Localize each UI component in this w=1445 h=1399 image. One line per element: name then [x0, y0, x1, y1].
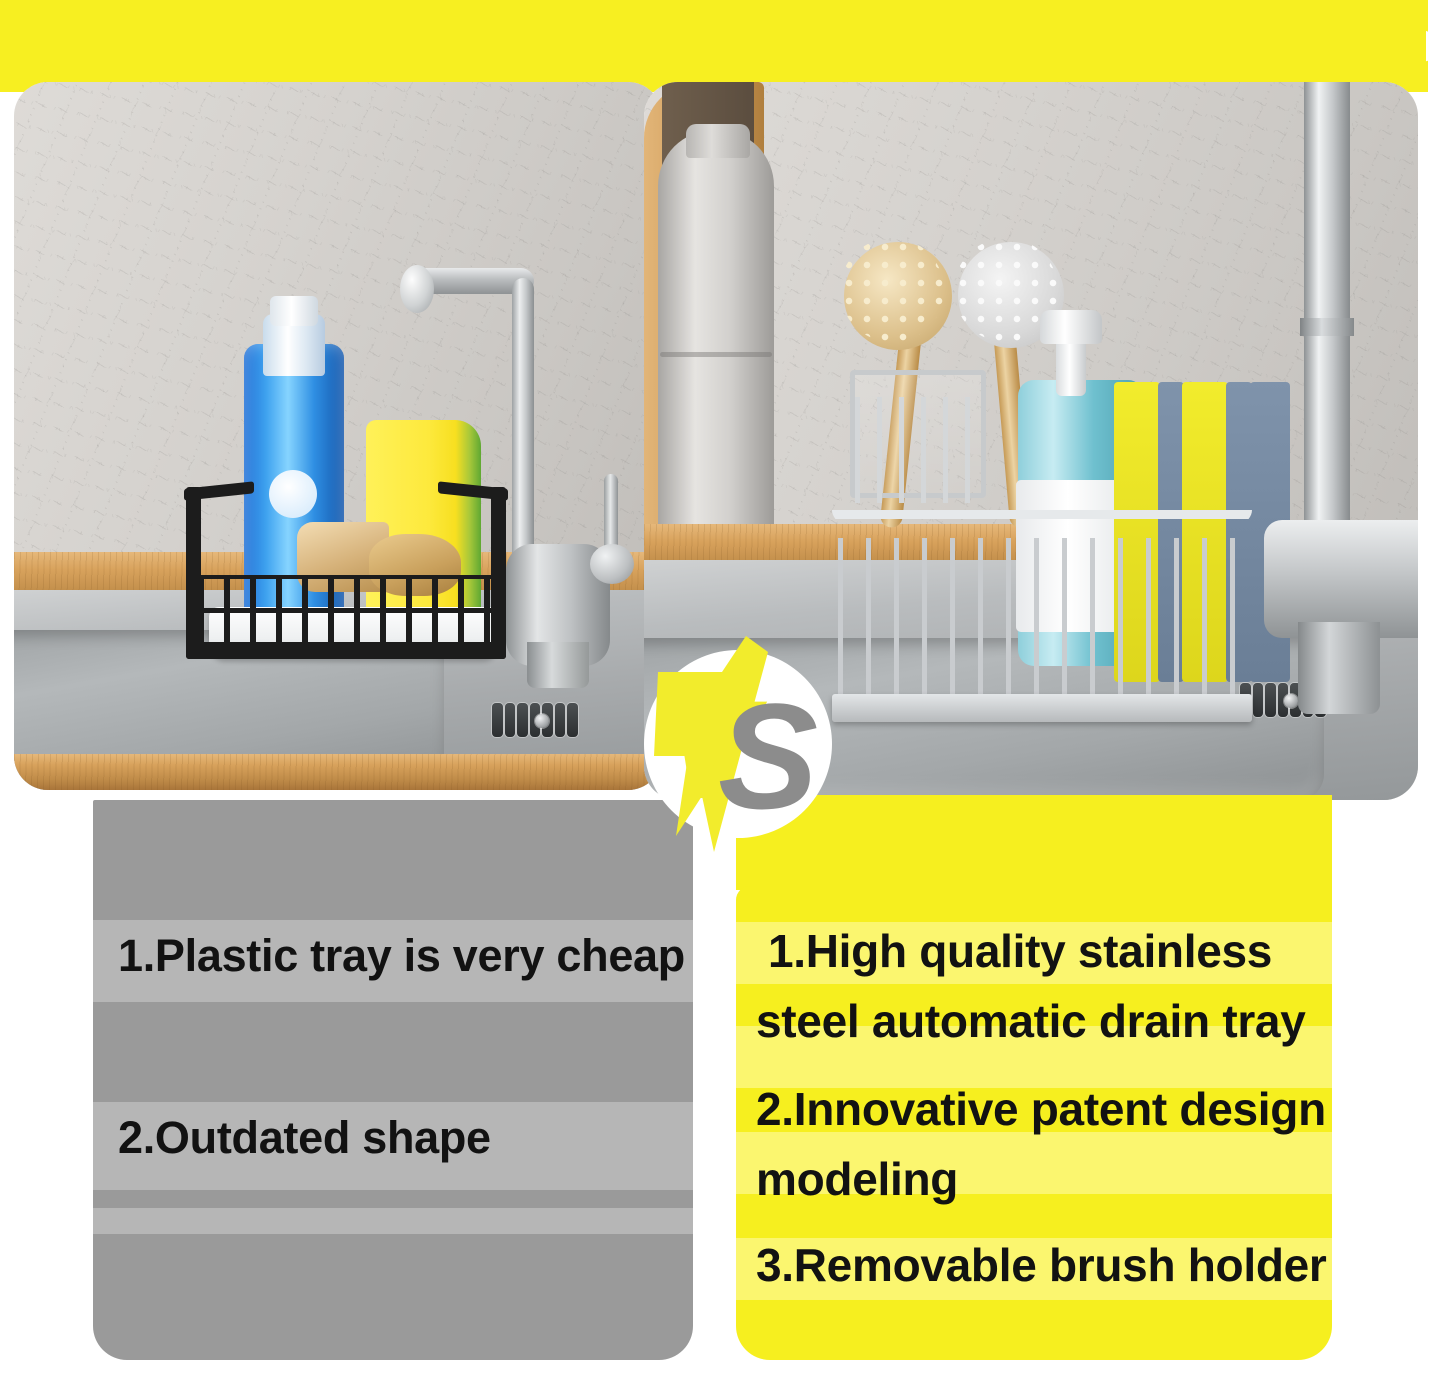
faucet-neck	[527, 642, 589, 688]
caddy-wire-mesh	[198, 575, 494, 647]
faucet-neck	[1298, 622, 1380, 714]
pros-panel: 1.High quality stainless steel automatic…	[736, 886, 1332, 1360]
faucet-column	[1304, 82, 1350, 522]
brush-bristles-tan	[840, 238, 944, 342]
faucet-handle-knob	[590, 544, 634, 584]
gray-dispenser-bottle	[658, 130, 774, 562]
automatic-drain-tray	[832, 694, 1252, 722]
vs-badge: V S	[618, 636, 834, 852]
sink-overflow-screw	[1284, 694, 1298, 708]
dispenser-cap	[686, 124, 750, 158]
pros-line-1: 1.High quality stainless	[736, 924, 1332, 978]
vs-badge-graphic: V S	[618, 636, 834, 852]
pros-line-5: 3.Removable brush holder	[736, 1238, 1332, 1292]
faucet-column	[512, 278, 534, 562]
faucet-spout-cap	[400, 265, 434, 313]
soap-pump-head	[1040, 310, 1102, 344]
chrome-wire-caddy	[832, 370, 1252, 722]
pros-line-4: modeling	[736, 1152, 1332, 1206]
faucet-column-ring	[1300, 318, 1354, 336]
pros-line-2: steel automatic drain tray	[736, 994, 1332, 1048]
sink-overflow-screw	[535, 714, 549, 728]
left-product-photo	[14, 82, 662, 790]
vs-letter-s: S	[718, 672, 818, 840]
top-yellow-banner	[0, 0, 1426, 92]
cons-panel: 1.Plastic tray is very cheap 2.Outdated …	[93, 800, 693, 1360]
caddy-wire-ribs	[838, 538, 1246, 698]
dispenser-seam	[660, 352, 772, 357]
faucet-body	[1264, 520, 1418, 638]
wood-countertop-front	[14, 754, 662, 790]
removable-brush-holder	[850, 370, 986, 498]
cons-band-3	[93, 1208, 693, 1234]
cons-line-2: 2.Outdated shape	[93, 1112, 693, 1164]
cons-line-1: 1.Plastic tray is very cheap	[93, 930, 693, 982]
pros-line-3: 2.Innovative patent design	[736, 1082, 1332, 1136]
caddy-frame-bottom	[186, 645, 506, 659]
black-wire-caddy	[186, 487, 506, 659]
dish-soap-bottle-cap	[270, 296, 318, 326]
